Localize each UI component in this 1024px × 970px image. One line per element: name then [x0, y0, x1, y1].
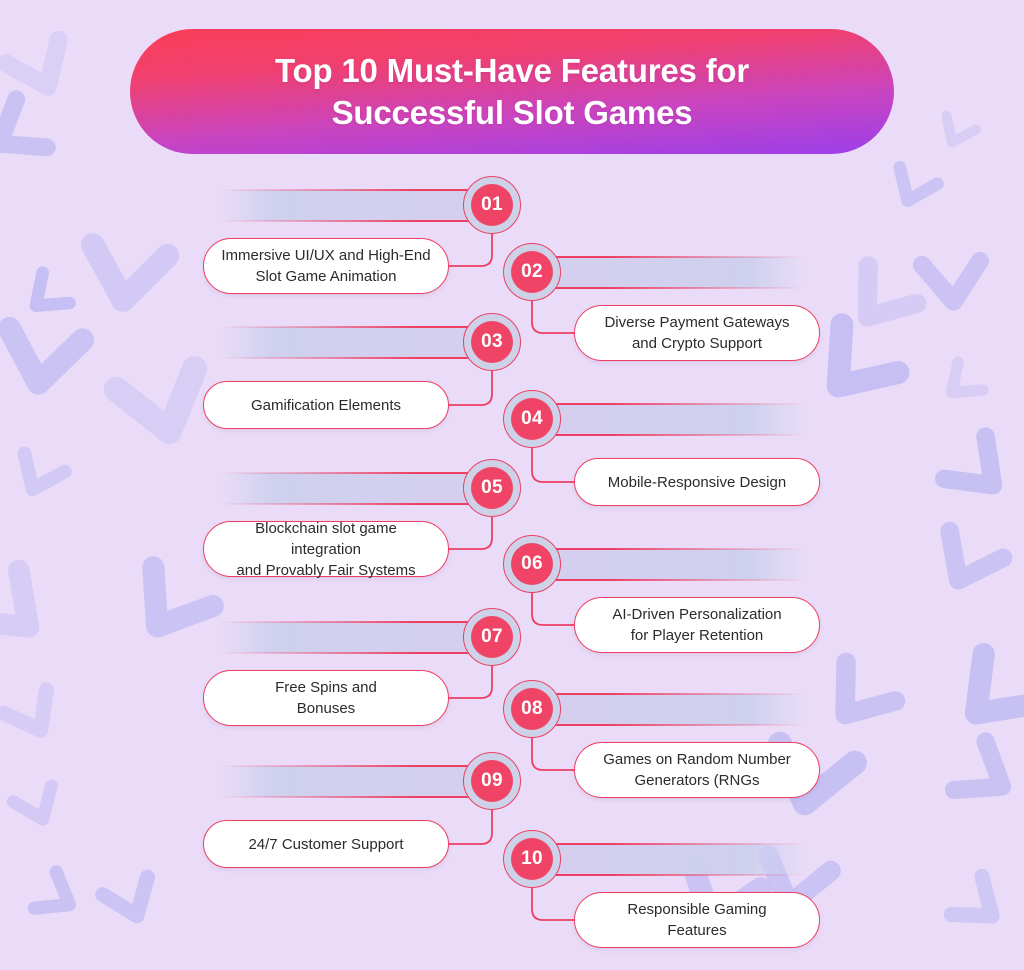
feature-number-label: 01	[471, 184, 513, 226]
feature-item: 10Responsible Gaming Features	[0, 830, 1024, 960]
feature-number-label: 09	[471, 760, 513, 802]
feature-label-pill[interactable]: Gamification Elements	[203, 381, 449, 429]
feature-number-label: 06	[511, 543, 553, 585]
feature-label-pill[interactable]: AI-Driven Personalization for Player Ret…	[574, 597, 820, 653]
feature-label-pill[interactable]: Responsible Gaming Features	[574, 892, 820, 948]
feature-number-badge[interactable]: 06	[503, 535, 561, 593]
feature-number-label: 03	[471, 321, 513, 363]
feature-number-badge[interactable]: 05	[463, 459, 521, 517]
feature-number-badge[interactable]: 07	[463, 608, 521, 666]
infographic-canvas: Top 10 Must-Have Features for Successful…	[0, 0, 1024, 970]
feature-label-pill[interactable]: 24/7 Customer Support	[203, 820, 449, 868]
feature-number-badge[interactable]: 09	[463, 752, 521, 810]
feature-number-badge[interactable]: 04	[503, 390, 561, 448]
feature-number-label: 04	[511, 398, 553, 440]
feature-number-label: 02	[511, 251, 553, 293]
feature-label-pill[interactable]: Mobile-Responsive Design	[574, 458, 820, 506]
feature-number-label: 05	[471, 467, 513, 509]
feature-number-badge[interactable]: 02	[503, 243, 561, 301]
feature-label-pill[interactable]: Diverse Payment Gateways and Crypto Supp…	[574, 305, 820, 361]
feature-number-label: 08	[511, 688, 553, 730]
feature-number-badge[interactable]: 01	[463, 176, 521, 234]
feature-number-badge[interactable]: 03	[463, 313, 521, 371]
feature-number-badge[interactable]: 08	[503, 680, 561, 738]
feature-number-badge[interactable]: 10	[503, 830, 561, 888]
feature-label-pill[interactable]: Free Spins and Bonuses	[203, 670, 449, 726]
feature-number-label: 10	[511, 838, 553, 880]
feature-label-pill[interactable]: Immersive UI/UX and High-End Slot Game A…	[203, 238, 449, 294]
feature-list: 01Immersive UI/UX and High-End Slot Game…	[0, 0, 1024, 970]
feature-label-pill[interactable]: Blockchain slot game integration and Pro…	[203, 521, 449, 577]
feature-label-pill[interactable]: Games on Random Number Generators (RNGs	[574, 742, 820, 798]
feature-number-label: 07	[471, 616, 513, 658]
